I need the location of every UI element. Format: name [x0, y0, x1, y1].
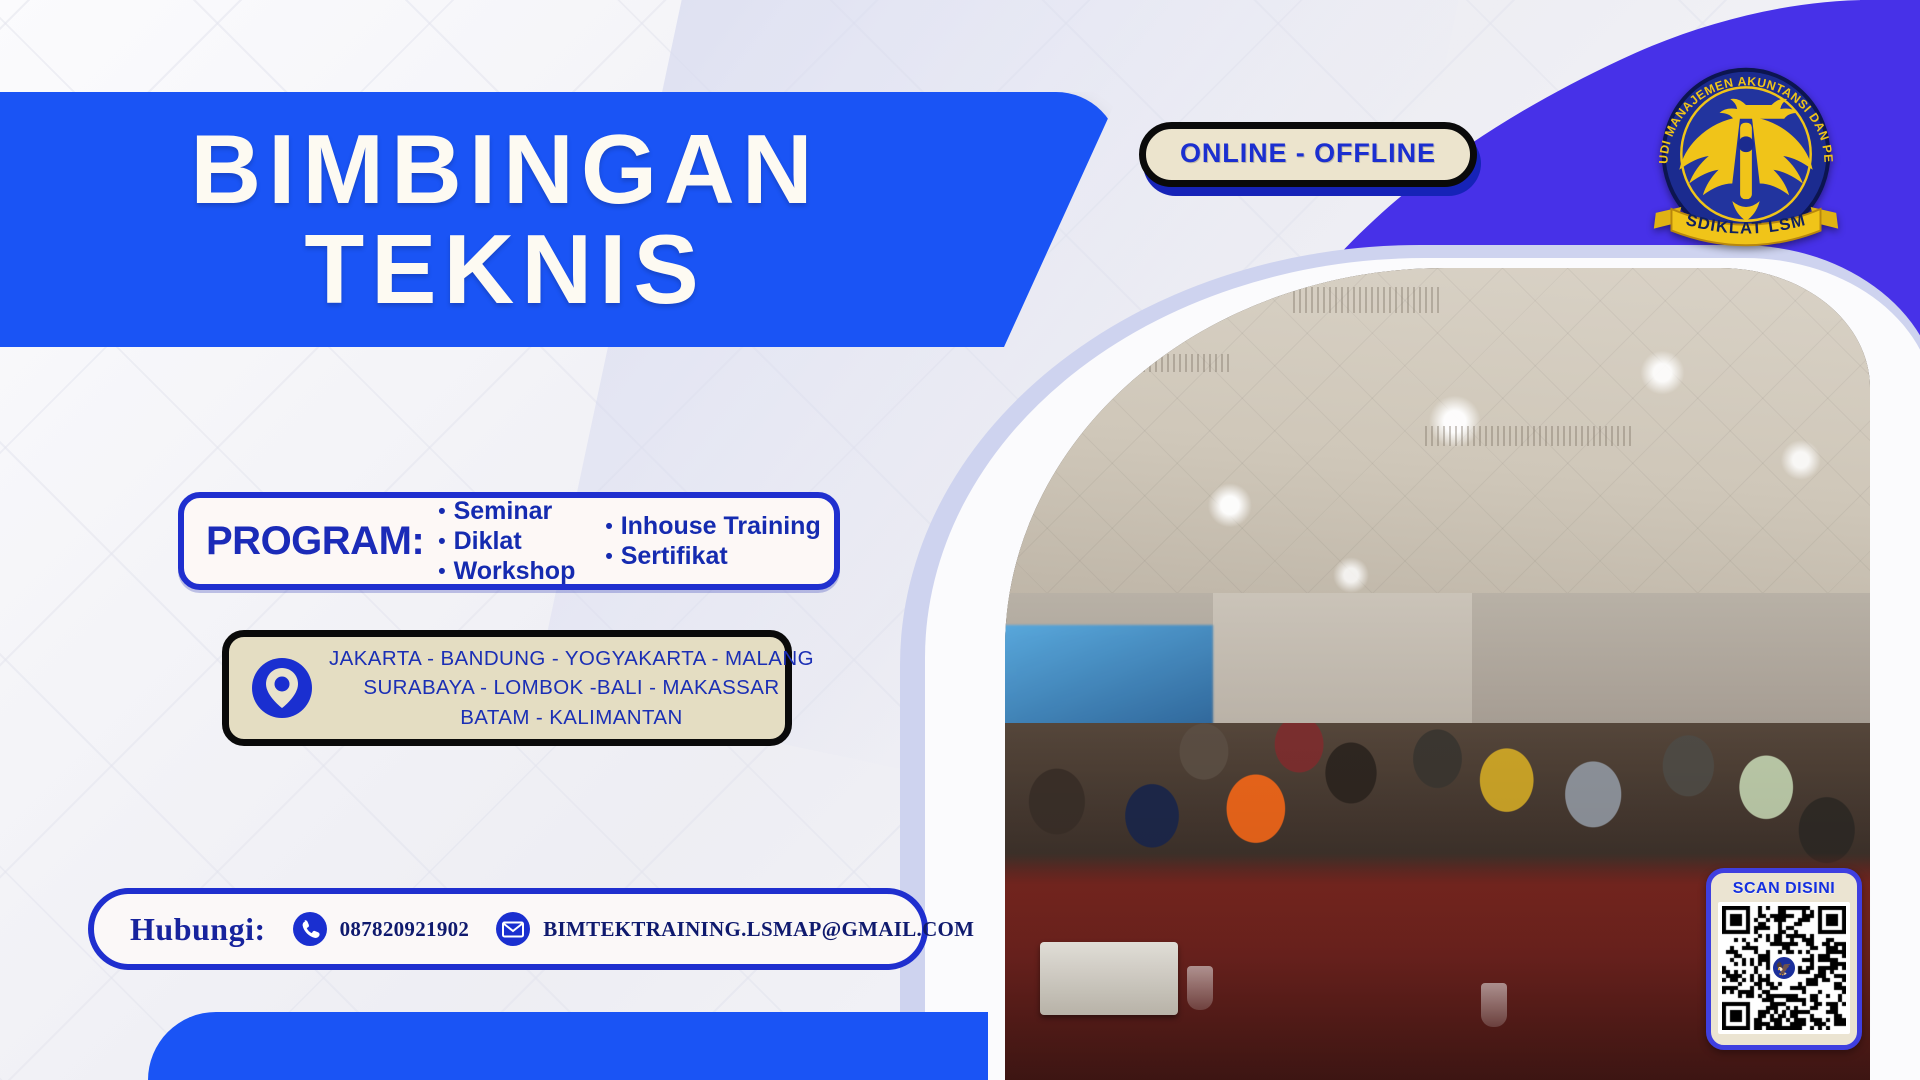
qr-center-emblem: 🦅 — [1771, 955, 1797, 981]
phone-icon — [292, 911, 328, 947]
program-item-label: Workshop — [454, 557, 576, 586]
pusdiklat-lsmap-logo: LEMBAGA STUDI MANAJEMEN AKUNTANSI DAN PE… — [1638, 58, 1854, 258]
program-item-label: Sertifikat — [621, 542, 728, 571]
title-banner: BIMBINGAN TEKNIS — [0, 92, 1120, 347]
contact-bar: Hubungi: 087820921902 BIMTEKTRAINING.LSM… — [88, 888, 928, 970]
mode-badge: ONLINE - OFFLINE — [1139, 122, 1477, 187]
location-line: JAKARTA - BANDUNG - YOGYAKARTA - MALANG — [329, 644, 814, 673]
location-lines: JAKARTA - BANDUNG - YOGYAKARTA - MALANG … — [329, 644, 832, 731]
bullet-icon: • — [605, 546, 612, 567]
program-item: • Inhouse Training — [605, 512, 820, 541]
email-address: BIMTEKTRAINING.LSMAP@GMAIL.COM — [543, 917, 974, 942]
program-column-2: • Inhouse Training • Sertifikat — [605, 497, 820, 586]
location-box: JAKARTA - BANDUNG - YOGYAKARTA - MALANG … — [222, 630, 792, 746]
garuda-icon: 🦅 — [1776, 962, 1792, 975]
program-box: PROGRAM: • Seminar • Diklat • Workshop •… — [178, 492, 840, 590]
location-line: BATAM - KALIMANTAN — [329, 703, 814, 732]
bullet-icon: • — [438, 561, 445, 582]
program-item: • Seminar — [438, 497, 575, 526]
bullet-icon: • — [438, 501, 445, 522]
program-label: PROGRAM: — [206, 519, 424, 564]
bottom-blue-shape — [148, 1012, 988, 1080]
program-columns: • Seminar • Diklat • Workshop • Inhouse … — [438, 497, 821, 586]
page-title-line2: TEKNIS — [304, 220, 705, 320]
program-column-1: • Seminar • Diklat • Workshop — [438, 497, 575, 586]
program-item: • Workshop — [438, 557, 575, 586]
bullet-icon: • — [605, 516, 612, 537]
program-item-label: Inhouse Training — [621, 512, 821, 541]
qr-code-image[interactable]: 🦅 — [1718, 902, 1850, 1034]
map-pin-icon — [251, 657, 313, 719]
envelope-icon — [495, 911, 531, 947]
program-item-label: Seminar — [454, 497, 553, 526]
program-item-label: Diklat — [454, 527, 522, 556]
contact-email[interactable]: BIMTEKTRAINING.LSMAP@GMAIL.COM — [495, 911, 974, 947]
mode-badge-label: ONLINE - OFFLINE — [1180, 138, 1436, 168]
location-line: SURABAYA - LOMBOK -BALI - MAKASSAR — [329, 673, 814, 702]
program-item: • Sertifikat — [605, 542, 820, 571]
contact-phone[interactable]: 087820921902 — [292, 911, 470, 947]
qr-card[interactable]: SCAN DISINI 🦅 — [1706, 868, 1862, 1050]
program-item: • Diklat — [438, 527, 575, 556]
page-title-line1: BIMBINGAN — [190, 120, 819, 220]
bullet-icon: • — [438, 531, 445, 552]
contact-label: Hubungi: — [130, 911, 266, 948]
phone-number: 087820921902 — [340, 917, 470, 942]
qr-title: SCAN DISINI — [1733, 880, 1835, 898]
